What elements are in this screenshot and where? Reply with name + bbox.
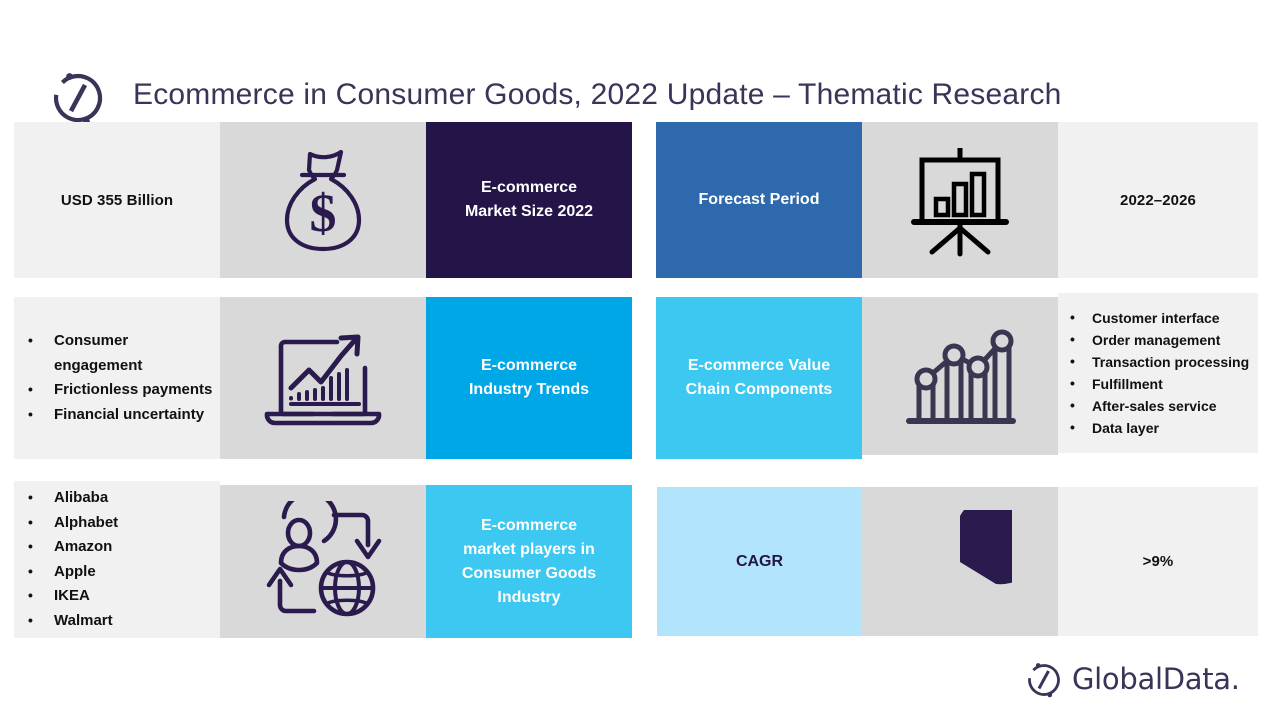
cagr-value: >9%: [1143, 553, 1174, 570]
market-size-label-line2: Market Size 2022: [465, 200, 593, 224]
industry-trends-label-line1: E-commerce: [469, 354, 589, 378]
market-size-icon-panel: $: [220, 122, 426, 278]
list-item: Data layer: [1058, 417, 1258, 439]
forecast-period-icon-panel: [862, 122, 1058, 278]
list-item: Transaction processing: [1058, 351, 1258, 373]
cagr-label-panel: CAGR: [657, 487, 862, 636]
value-chain-label-line2: Chain Components: [686, 378, 833, 402]
bar-line-chart-icon: [901, 321, 1019, 431]
industry-trends-label-line2: Industry Trends: [469, 378, 589, 402]
laptop-growth-chart-icon: [259, 326, 387, 430]
industry-trends-icon-panel: [220, 297, 426, 459]
user-globe-exchange-icon: [262, 501, 384, 623]
cagr-value-panel: >9%: [1058, 487, 1258, 636]
list-item: Customer interface: [1058, 307, 1258, 329]
market-size-value: USD 355 Billion: [61, 192, 173, 209]
market-players-bullets-panel: Alibaba Alphabet Amazon Apple IKEA Walma…: [14, 481, 220, 638]
industry-trends-bullet-list: Consumer engagement Frictionless payment…: [14, 329, 220, 427]
list-item: Apple: [14, 560, 220, 585]
forecast-period-value-panel: 2022–2026: [1058, 122, 1258, 278]
value-chain-label-panel: E-commerce Value Chain Components: [656, 297, 862, 459]
industry-trends-bullets-panel: Consumer engagement Frictionless payment…: [14, 297, 220, 459]
list-item: Walmart: [14, 609, 220, 634]
value-chain-label-line1: E-commerce Value: [686, 354, 833, 378]
industry-trends-label-panel: E-commerce Industry Trends: [426, 297, 632, 459]
list-item: Alibaba: [14, 486, 220, 511]
list-item: Fulfillment: [1058, 373, 1258, 395]
market-players-label-line2: market players in: [462, 538, 596, 562]
market-players-label-line1: E-commerce: [462, 514, 596, 538]
list-item: Alphabet: [14, 511, 220, 536]
market-size-label-panel: E-commerce Market Size 2022: [426, 122, 632, 278]
market-players-label-line4: Industry: [462, 586, 596, 610]
list-item: IKEA: [14, 584, 220, 609]
globaldata-mark-icon: [45, 64, 111, 130]
footer-brand-name: GlobalData.: [1072, 662, 1240, 696]
market-players-icon-panel: [220, 485, 426, 638]
forecast-period-label-panel: Forecast Period: [656, 122, 862, 278]
market-size-value-panel: USD 355 Billion: [14, 122, 220, 278]
pie-chart-icon: [908, 510, 1012, 614]
value-chain-icon-panel: [862, 297, 1058, 455]
money-bag-icon: $: [275, 144, 371, 256]
header: Ecommerce in Consumer Goods, 2022 Update…: [0, 28, 1280, 108]
list-item: After-sales service: [1058, 395, 1258, 417]
market-players-label-panel: E-commerce market players in Consumer Go…: [426, 485, 632, 638]
forecast-period-value: 2022–2026: [1120, 192, 1196, 209]
value-chain-bullet-list: Customer interface Order management Tran…: [1058, 307, 1258, 439]
infographic-canvas: Ecommerce in Consumer Goods, 2022 Update…: [0, 0, 1280, 720]
market-players-label-line3: Consumer Goods: [462, 562, 596, 586]
presentation-bar-chart-icon: [902, 142, 1018, 258]
list-item: Consumer engagement: [14, 329, 220, 378]
market-players-bullet-list: Alibaba Alphabet Amazon Apple IKEA Walma…: [14, 486, 220, 633]
page-title: Ecommerce in Consumer Goods, 2022 Update…: [133, 75, 1253, 115]
svg-text:$: $: [310, 183, 337, 243]
list-item: Amazon: [14, 535, 220, 560]
cagr-icon-panel: [862, 487, 1058, 636]
footer-brand: GlobalData.: [1022, 655, 1248, 703]
value-chain-bullets-panel: Customer interface Order management Tran…: [1058, 293, 1258, 453]
cagr-label: CAGR: [736, 550, 783, 574]
list-item: Frictionless payments: [14, 378, 220, 403]
list-item: Financial uncertainty: [14, 403, 220, 428]
forecast-period-label: Forecast Period: [699, 188, 820, 212]
market-size-label-line1: E-commerce: [465, 176, 593, 200]
list-item: Order management: [1058, 329, 1258, 351]
globaldata-mark-icon: [1022, 657, 1066, 701]
